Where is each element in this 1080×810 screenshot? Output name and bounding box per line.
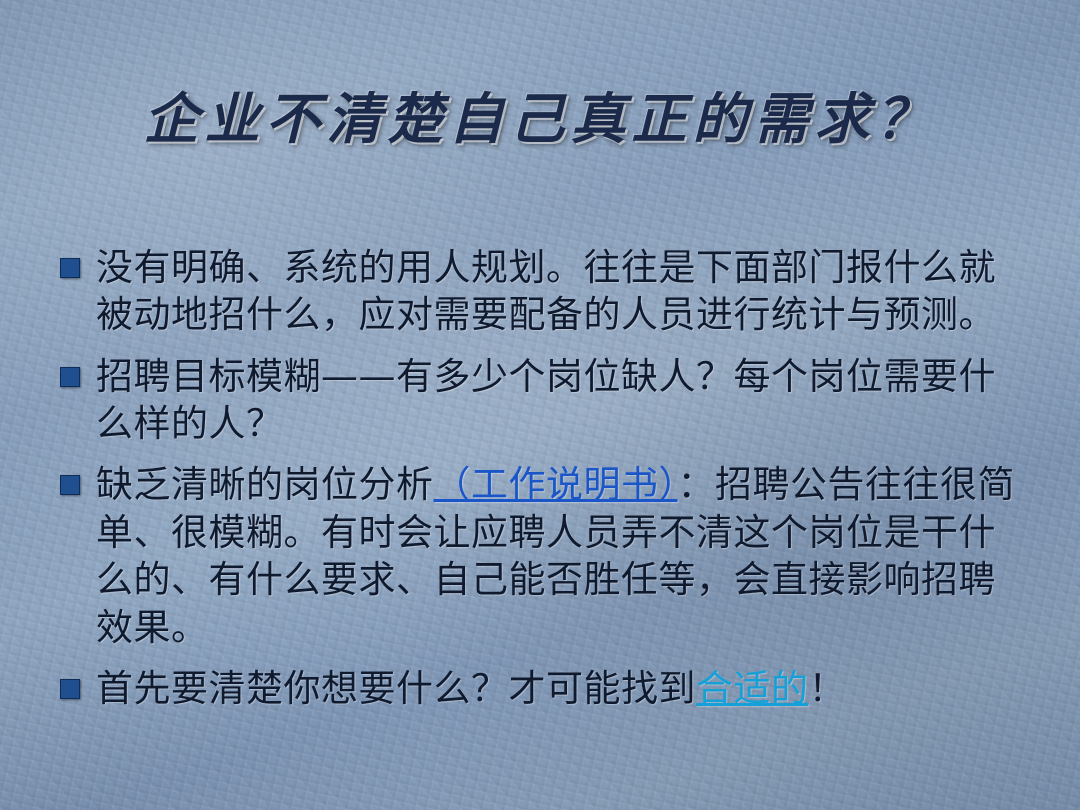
- text-segment: 没有明确、系统的用人规划。往往是下面部门报什么就被动地招什么，应对需要配备的人员…: [96, 246, 996, 336]
- square-bullet-icon: [60, 679, 80, 699]
- text-segment-highlight: （工作说明书）: [434, 463, 678, 506]
- text-segment: 首先要清楚你想要什么？才可能找到: [96, 667, 696, 710]
- square-bullet-icon: [60, 475, 80, 495]
- bullet-list: 没有明确、系统的用人规划。往往是下面部门报什么就被动地招什么，应对需要配备的人员…: [60, 244, 1030, 726]
- list-item: 首先要清楚你想要什么？才可能找到合适的！: [60, 665, 1030, 712]
- list-item-text: 首先要清楚你想要什么？才可能找到合适的！: [96, 665, 1030, 712]
- list-item: 没有明确、系统的用人规划。往往是下面部门报什么就被动地招什么，应对需要配备的人员…: [60, 244, 1030, 339]
- list-item-text: 招聘目标模糊——有多少个岗位缺人？每个岗位需要什么样的人？: [96, 353, 1030, 448]
- square-bullet-icon: [60, 258, 80, 278]
- list-item: 缺乏清晰的岗位分析（工作说明书）：招聘公告往往很简单、很模糊。有时会让应聘人员弄…: [60, 461, 1030, 650]
- list-item-text: 缺乏清晰的岗位分析（工作说明书）：招聘公告往往很简单、很模糊。有时会让应聘人员弄…: [96, 461, 1030, 650]
- list-item: 招聘目标模糊——有多少个岗位缺人？每个岗位需要什么样的人？: [60, 353, 1030, 448]
- slide-title: 企业不清楚自己真正的需求？: [0, 74, 1080, 154]
- text-segment: 缺乏清晰的岗位分析: [96, 463, 434, 506]
- text-segment: 招聘目标模糊——有多少个岗位缺人？每个岗位需要什么样的人？: [96, 355, 996, 445]
- square-bullet-icon: [60, 367, 80, 387]
- list-item-text: 没有明确、系统的用人规划。往往是下面部门报什么就被动地招什么，应对需要配备的人员…: [96, 244, 1030, 339]
- text-segment-highlight: 合适的: [696, 667, 809, 710]
- text-segment: ！: [809, 667, 847, 710]
- presentation-slide: 企业不清楚自己真正的需求？ 没有明确、系统的用人规划。往往是下面部门报什么就被动…: [0, 0, 1080, 810]
